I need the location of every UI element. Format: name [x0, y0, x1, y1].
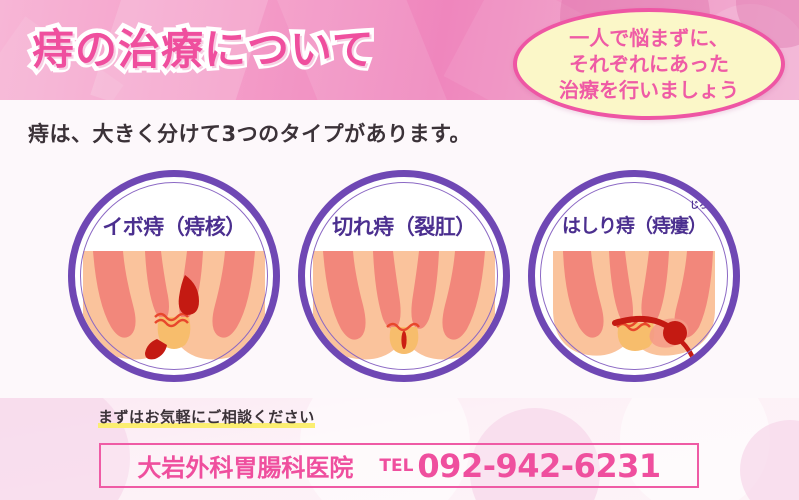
page-title-text: 痔の治療について	[32, 29, 375, 71]
page-title: 痔の治療について	[32, 16, 502, 84]
callout-line-3: 治療を行いましょう	[559, 77, 739, 103]
illustration-fissure	[311, 251, 497, 369]
callout-line-1: 一人で悩まずに、	[569, 25, 728, 51]
type-label-3-text: はしり痔（痔瘻）じろう	[562, 211, 706, 238]
tel-number[interactable]: 092-942-6231	[417, 450, 660, 482]
tel-label: TEL	[379, 456, 413, 476]
clinic-name: 大岩外科胃腸科医院	[137, 448, 353, 483]
type-label-3-furigana: じろう	[690, 198, 717, 211]
contact-box: 大岩外科胃腸科医院 TEL 092-942-6231	[99, 443, 699, 488]
clinic-banner: 痔の治療について 一人で悩まずに、 それぞれにあった 治療を行いましょう 痔は、…	[0, 0, 799, 500]
consult-message-text: まずはお気軽にご相談ください	[98, 408, 315, 428]
type-label-1-text: イボ痔（痔核）	[102, 211, 246, 241]
callout-bubble: 一人で悩まずに、 それぞれにあった 治療を行いましょう	[513, 8, 785, 120]
type-label-1: イボ痔（痔核）	[75, 211, 273, 241]
consult-message: まずはお気軽にご相談ください	[98, 406, 315, 427]
callout-line-2: それぞれにあった	[569, 51, 729, 77]
illustration-fistula	[541, 251, 727, 369]
intro-text: 痔は、大きく分けて3つのタイプがあります。	[28, 118, 471, 148]
type-circle-row: イボ痔（痔核）	[0, 168, 799, 386]
type-label-2: 切れ痔（裂肛）	[305, 211, 503, 241]
type-circle-fissure: 切れ痔（裂肛）	[298, 170, 510, 382]
type-label-3: はしり痔（痔瘻）じろう	[535, 211, 733, 238]
illustration-hemorrhoid	[81, 251, 267, 369]
type-circle-fistula: はしり痔（痔瘻）じろう	[528, 170, 740, 382]
type-label-2-text: 切れ痔（裂肛）	[332, 211, 476, 241]
type-circle-hemorrhoid: イボ痔（痔核）	[68, 170, 280, 382]
